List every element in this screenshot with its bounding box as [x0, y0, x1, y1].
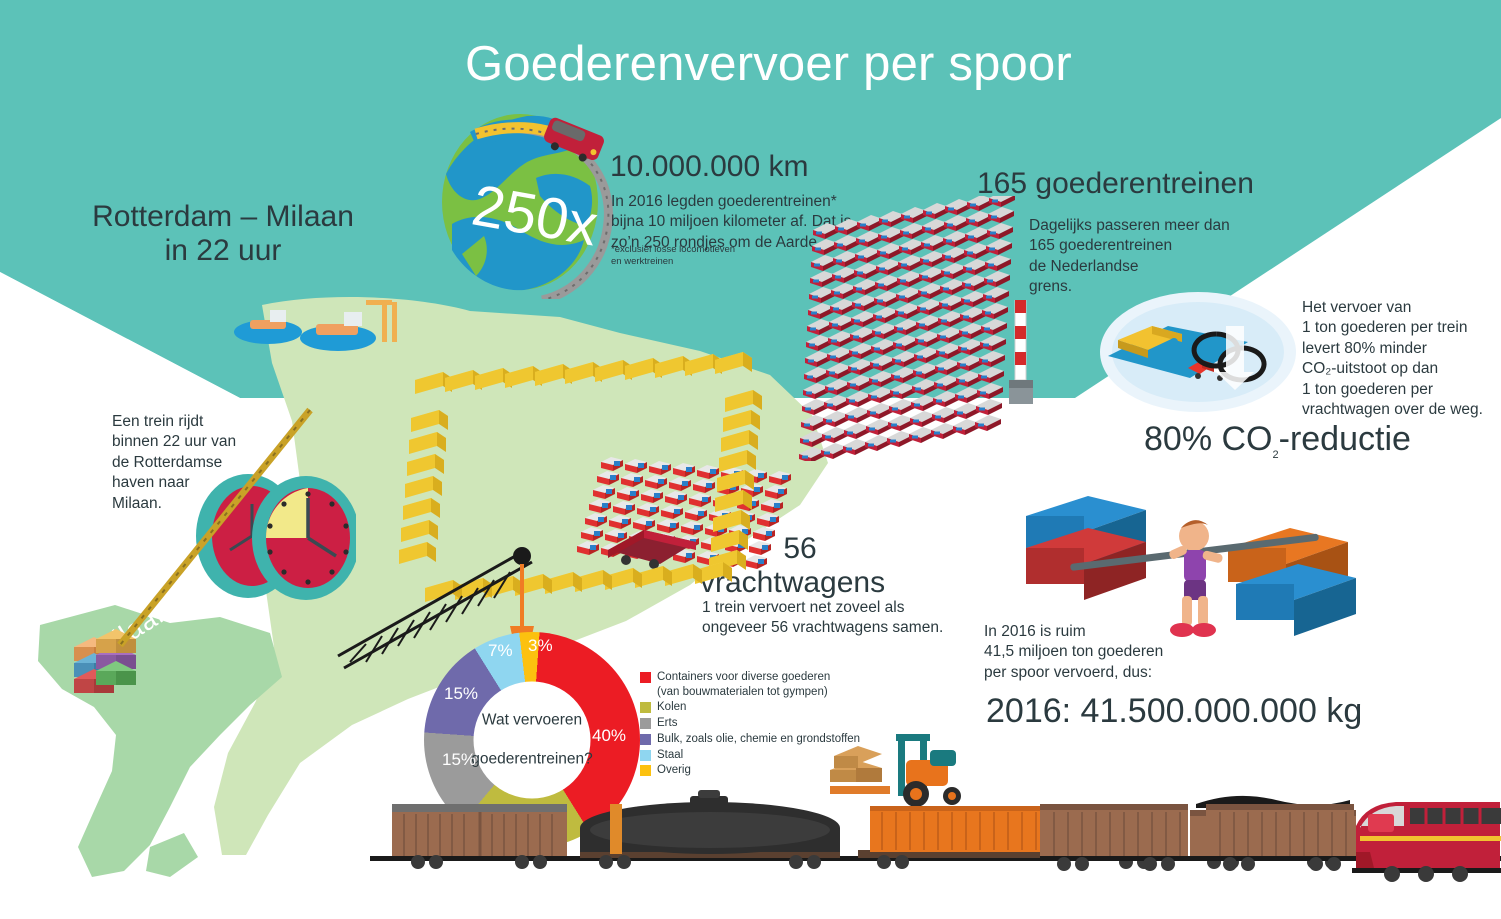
locomotive-icon	[1352, 792, 1501, 882]
page-title: Goederenvervoer per spoor	[465, 36, 1072, 92]
legend-swatch-icon	[640, 672, 651, 683]
bottom-train-boxcars	[1040, 796, 1360, 882]
co2-heading: 80% CO2-reductie	[1144, 420, 1411, 461]
donut-value-label-4: 7%	[488, 641, 513, 661]
legend-swatch-icon	[640, 734, 651, 745]
legend-item: Kolen	[640, 700, 860, 715]
legend-label: Staal	[657, 748, 683, 763]
wagon-tanker	[580, 790, 840, 869]
tonnage-heading: 2016: 41.500.000.000 kg	[986, 692, 1362, 731]
co2-body: Het vervoer van 1 ton goederen per trein…	[1302, 298, 1501, 421]
rotterdam-heading-line2: in 22 uur	[78, 234, 368, 268]
donut-value-label-3: 15%	[444, 684, 478, 704]
legend-label: Kolen	[657, 700, 686, 715]
rotterdam-heading: Rotterdam – Milaan in 22 uur	[78, 200, 368, 267]
co2-illustration	[1098, 286, 1298, 416]
legend-swatch-icon	[640, 750, 651, 761]
train-stack-graphic	[795, 196, 1020, 461]
legend-swatch-icon	[640, 702, 651, 713]
barrier-pole-icon	[1005, 300, 1045, 410]
legend-item: Containers voor diverse goederen (van bo…	[640, 670, 860, 699]
rotterdam-heading-line1: Rotterdam – Milaan	[78, 200, 368, 234]
rail-track-italy	[60, 390, 350, 690]
legend-item: Erts	[640, 716, 860, 731]
donut-value-label-5: 3%	[528, 636, 553, 656]
co2-heading-pre: 80% CO	[1144, 420, 1273, 458]
legend-label: Erts	[657, 716, 677, 731]
infographic-canvas: Goederenvervoer per spoor Rotterdam – Mi…	[0, 0, 1501, 919]
kilometers-heading: 10.000.000 km	[610, 150, 808, 184]
legend-label: Containers voor diverse goederen (van bo…	[657, 670, 830, 699]
donut-center-line2: goederentreinen?	[471, 750, 593, 769]
ships-icon	[232, 290, 412, 360]
donut-value-label-2: 15%	[442, 750, 476, 770]
co2-heading-post: -reductie	[1279, 420, 1411, 458]
legend-swatch-icon	[640, 718, 651, 729]
tonnage-body: In 2016 is ruim 41,5 miljoen ton goedere…	[984, 622, 1214, 683]
donut-value-label-0: 40%	[592, 726, 626, 746]
donut-center-line1: Wat vervoeren	[471, 711, 593, 730]
